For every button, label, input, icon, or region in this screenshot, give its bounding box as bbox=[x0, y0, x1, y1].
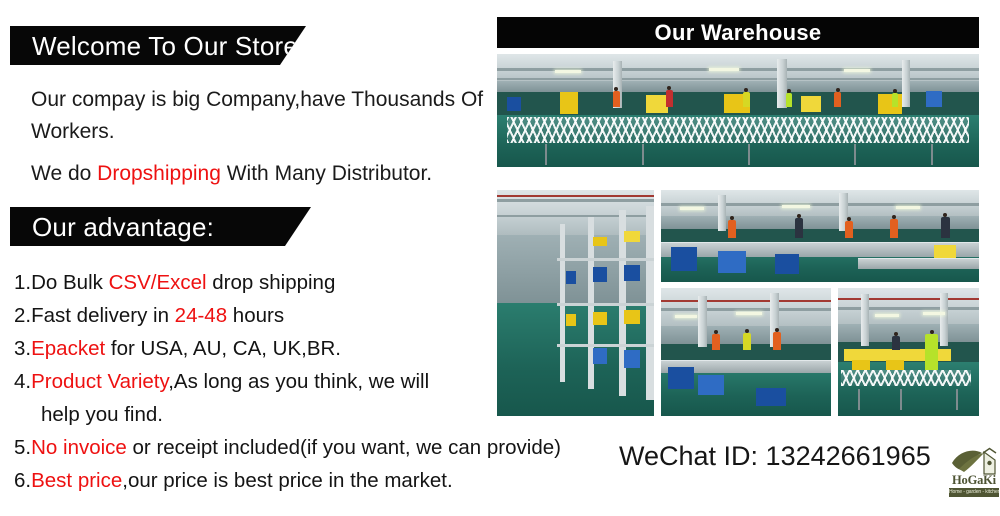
advantage-suffix-3: for USA, AU, CA, UK,BR. bbox=[105, 337, 341, 360]
welcome-banner: Welcome To Our Store bbox=[10, 26, 306, 65]
warehouse-scene-art bbox=[497, 190, 654, 416]
warehouse-scene-art bbox=[838, 288, 979, 416]
warehouse-photo-sorting-conveyor bbox=[661, 190, 979, 282]
advantage-number-5: 5. bbox=[14, 436, 31, 459]
intro-line-3: We do Dropshipping With Many Distributor… bbox=[31, 158, 491, 190]
company-intro: Our compay is big Company,have Thousands… bbox=[31, 84, 491, 200]
advantage-number-1: 1. bbox=[14, 271, 31, 294]
house-leaf-icon bbox=[951, 447, 997, 475]
advantage-number-2: 2. bbox=[14, 304, 31, 327]
advantage-number-3: 3. bbox=[14, 337, 31, 360]
advantage-suffix-1: drop shipping bbox=[207, 271, 336, 294]
warehouse-photo-packing-station bbox=[838, 288, 979, 416]
advantage-prefix-2: Fast delivery in bbox=[31, 304, 175, 327]
advantage-banner-label: Our advantage: bbox=[10, 214, 214, 240]
brand-logo-tagline: Home - garden - kitchen bbox=[949, 488, 999, 497]
dropship-suffix: With Many Distributor. bbox=[221, 162, 432, 185]
warehouse-column: Our Warehouse bbox=[497, 0, 1000, 516]
intro-line-1: Our compay is big Company,have Thousands… bbox=[31, 84, 491, 148]
advantage-suffix-5: or receipt included(if you want, we can … bbox=[127, 436, 561, 459]
promo-banner-page: Welcome To Our Store Our compay is big C… bbox=[0, 0, 1000, 516]
warehouse-photo-packing-line bbox=[661, 288, 831, 416]
warehouse-banner: Our Warehouse bbox=[497, 17, 979, 48]
warehouse-photo-storage-racks bbox=[497, 190, 654, 416]
advantage-number-4: 4. bbox=[14, 370, 31, 393]
store-info-column: Welcome To Our Store Our compay is big C… bbox=[0, 0, 497, 516]
advantage-highlight-5: No invoice bbox=[31, 436, 127, 459]
brand-logo-name: HoGaKi bbox=[949, 474, 999, 487]
intro-text-2: Workers. bbox=[31, 120, 115, 143]
advantage-highlight-2: 24-48 bbox=[175, 304, 227, 327]
warehouse-photo-floor-conveyor bbox=[497, 54, 979, 167]
advantage-suffix-6: ,our price is best price in the market. bbox=[122, 469, 452, 492]
advantage-number-6: 6. bbox=[14, 469, 31, 492]
warehouse-banner-label: Our Warehouse bbox=[655, 22, 822, 44]
warehouse-scene-art bbox=[661, 288, 831, 416]
advantage-suffix-2: hours bbox=[227, 304, 284, 327]
advantage-banner: Our advantage: bbox=[10, 207, 311, 246]
welcome-banner-label: Welcome To Our Store bbox=[10, 33, 298, 59]
advantage-suffix-4: ,As long as you think, we will bbox=[168, 370, 429, 393]
advantage-highlight-4: Product Variety bbox=[31, 370, 168, 393]
warehouse-scene-art bbox=[661, 190, 979, 282]
brand-logo: HoGaKi Home - garden - kitchen bbox=[949, 447, 999, 503]
intro-text-1: Our compay is big Company,have Thousands… bbox=[31, 88, 483, 111]
warehouse-scene-art bbox=[497, 54, 979, 167]
advantage-prefix-1: Do Bulk bbox=[31, 271, 108, 294]
advantage-highlight-3: Epacket bbox=[31, 337, 105, 360]
wechat-id-label: WeChat ID: 13242661965 bbox=[619, 443, 931, 470]
dropship-prefix: We do bbox=[31, 162, 97, 185]
dropship-highlight: Dropshipping bbox=[97, 162, 221, 185]
advantage-highlight-6: Best price bbox=[31, 469, 122, 492]
advantage-highlight-1: CSV/Excel bbox=[109, 271, 207, 294]
